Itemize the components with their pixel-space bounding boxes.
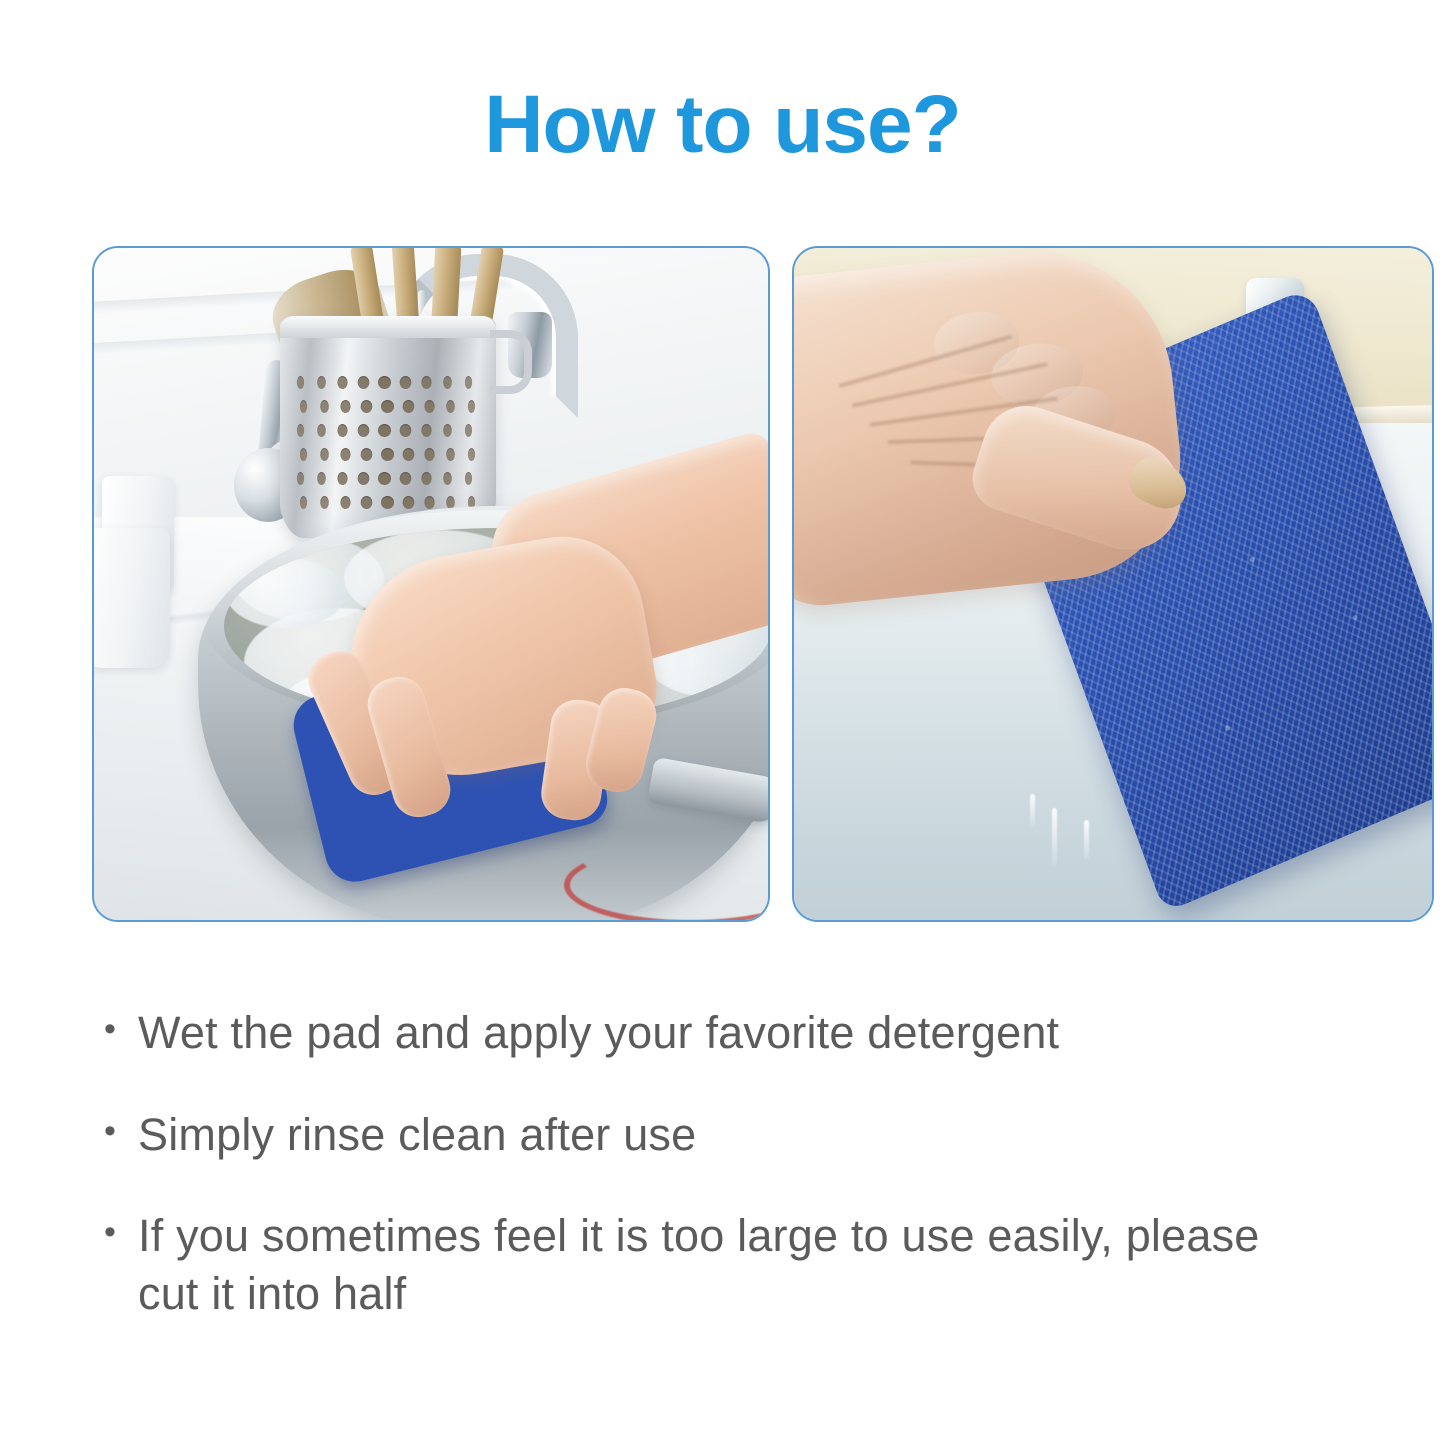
page-title: How to use?: [0, 84, 1445, 166]
utensil-holder-hole: [465, 376, 472, 389]
utensil-holder-hole: [443, 472, 452, 485]
utensil-holder-hole: [446, 400, 455, 413]
water-drip: [1052, 808, 1057, 866]
list-item: • Simply rinse clean after use: [104, 1106, 1424, 1164]
utensil-holder-hole: [378, 424, 391, 437]
instruction-list: • Wet the pad and apply your favorite de…: [104, 1004, 1424, 1322]
utensil-holder-hole: [421, 472, 431, 485]
utensil-holder-hole: [337, 376, 347, 389]
utensil-holder-hole: [421, 424, 431, 437]
utensil-holder-hole: [421, 376, 431, 389]
utensil-holder-hole: [317, 424, 326, 437]
utensil-holder-hole: [465, 424, 472, 437]
utensil-holder-hole: [378, 376, 391, 389]
utensil-holder-hole: [424, 400, 434, 413]
utensil-holder-hole: [320, 400, 329, 413]
utensil-holder-hole: [446, 448, 455, 461]
utensil-holder-hole: [400, 472, 412, 485]
utensil-holder-hole: [337, 424, 347, 437]
utensil-holder-hole: [317, 472, 326, 485]
utensil-holder-hole: [337, 472, 347, 485]
soap-suds: [226, 558, 346, 628]
instruction-photo-left: [92, 246, 770, 922]
list-item-text: Simply rinse clean after use: [138, 1106, 1424, 1164]
utensil-holder-hole: [381, 448, 394, 461]
utensil-holder-hole: [358, 424, 370, 437]
utensil-holder-hole: [361, 400, 373, 413]
list-item-text: If you sometimes feel it is too large to…: [138, 1207, 1424, 1322]
utensil-holder-hole: [340, 448, 350, 461]
water-drip: [1084, 820, 1089, 860]
list-item: • Wet the pad and apply your favorite de…: [104, 1004, 1424, 1062]
utensil-holder-hole: [340, 400, 350, 413]
utensil-holder-hole: [381, 400, 394, 413]
utensil-holder-perforations: [290, 372, 486, 522]
water-drip: [1030, 794, 1035, 828]
utensil-holder-hole: [300, 448, 307, 461]
utensil-holder-hole: [468, 400, 475, 413]
utensil-holder-hole: [358, 376, 370, 389]
utensil-holder-hole: [403, 496, 415, 509]
utensil-holder-hole: [400, 376, 412, 389]
utensil-holder-hole: [361, 496, 373, 509]
bullet-icon: •: [104, 1106, 138, 1157]
utensil-holder-hole: [403, 448, 415, 461]
utensil-holder-hole: [300, 496, 307, 509]
utensil-holder-handle: [490, 330, 532, 394]
bullet-icon: •: [104, 1207, 138, 1258]
utensil-holder-hole: [403, 400, 415, 413]
utensil-holder-hole: [378, 472, 391, 485]
utensil-holder-hole: [400, 424, 412, 437]
utensil-holder-hole: [361, 448, 373, 461]
list-item: • If you sometimes feel it is too large …: [104, 1207, 1424, 1322]
utensil-holder-hole: [424, 496, 434, 509]
utensil-holder-hole: [443, 376, 452, 389]
utensil-holder-rim: [280, 316, 496, 338]
utensil-holder-hole: [443, 424, 452, 437]
utensil-holder-hole: [468, 448, 475, 461]
instruction-photo-right: [792, 246, 1434, 922]
rinsing-pad-scene: [794, 248, 1432, 920]
utensil-holder-hole: [320, 496, 329, 509]
utensil-holder-hole: [424, 448, 434, 461]
utensil-holder: [280, 316, 496, 538]
utensil-holder-hole: [297, 376, 304, 389]
utensil-holder-hole: [317, 376, 326, 389]
utensil-holder-hole: [297, 424, 304, 437]
utensil-holder-hole: [340, 496, 350, 509]
list-item-text: Wet the pad and apply your favorite dete…: [138, 1004, 1424, 1062]
kitchen-sink-scene: [94, 248, 768, 920]
utensil-holder-hole: [297, 472, 304, 485]
utensil-holder-hole: [320, 448, 329, 461]
utensil-holder-hole: [465, 472, 472, 485]
bullet-icon: •: [104, 1004, 138, 1055]
utensil-holder-hole: [381, 496, 394, 509]
utensil-holder-hole: [358, 472, 370, 485]
utensil-holder-hole: [300, 400, 307, 413]
white-cup: [92, 528, 170, 668]
